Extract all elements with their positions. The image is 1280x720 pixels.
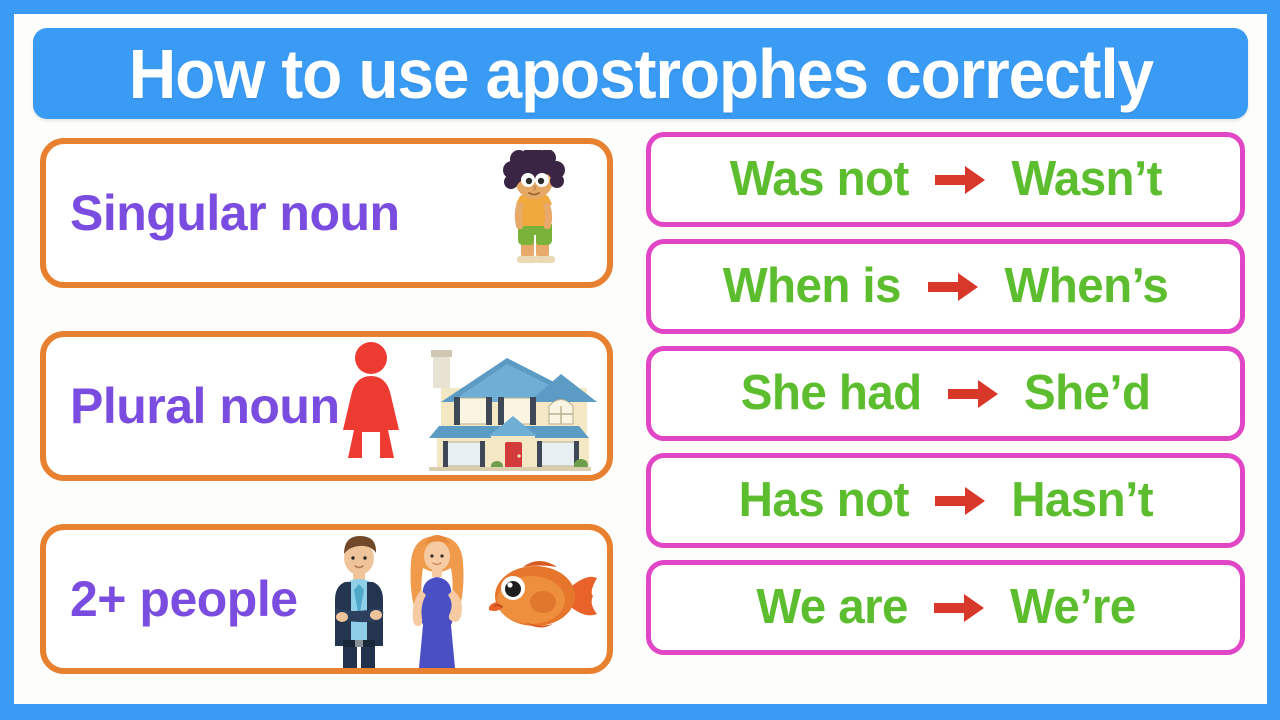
arrow-right-icon [946, 377, 1000, 411]
infographic-root: How to use apostrophes correctly Singula… [0, 0, 1280, 720]
contraction-short-form: She’d [1024, 369, 1151, 418]
contraction-full-form: Has not [738, 476, 908, 525]
page-title-banner: How to use apostrophes correctly [33, 28, 1248, 119]
woman-pictogram [335, 340, 407, 472]
noun-card-label: 2+ people [46, 574, 298, 624]
plural-noun-art-group [335, 337, 603, 475]
contraction-full-form: She had [741, 369, 922, 418]
noun-examples-column: Singular noun [14, 132, 629, 704]
contraction-card[interactable]: When is When’s [646, 239, 1245, 334]
contraction-card[interactable]: We are We’re [646, 560, 1245, 655]
arrow-right-icon [932, 591, 986, 625]
noun-card-plural[interactable]: Plural noun [40, 331, 613, 481]
contraction-full-form: We are [756, 583, 908, 632]
contraction-full-form: Was not [729, 155, 908, 204]
noun-card-label: Singular noun [46, 188, 400, 238]
contractions-column: Was not Wasn’t When is When’s She had [629, 132, 1267, 704]
arrow-right-icon [926, 270, 980, 304]
man-illustration [315, 528, 401, 668]
contraction-full-form: When is [723, 262, 901, 311]
goldfish-illustration [477, 550, 601, 642]
contraction-short-form: We’re [1010, 583, 1136, 632]
arrow-right-icon [933, 163, 987, 197]
contraction-short-form: When’s [1004, 262, 1168, 311]
contraction-short-form: Hasn’t [1011, 476, 1153, 525]
page-title: How to use apostrophes correctly [128, 39, 1152, 109]
contraction-card[interactable]: She had She’d [646, 346, 1245, 441]
arrow-right-icon [933, 484, 987, 518]
boy-illustration [487, 144, 579, 282]
contraction-card[interactable]: Was not Wasn’t [646, 132, 1245, 227]
people-and-fish-art-group [315, 530, 601, 668]
woman-illustration [397, 528, 477, 668]
contraction-short-form: Wasn’t [1011, 155, 1162, 204]
contraction-card[interactable]: Has not Hasn’t [646, 453, 1245, 548]
content-canvas: How to use apostrophes correctly Singula… [14, 14, 1267, 704]
noun-card-label: Plural noun [46, 381, 340, 431]
noun-card-singular[interactable]: Singular noun [40, 138, 613, 288]
content-columns: Singular noun [14, 132, 1267, 704]
house-illustration [411, 340, 603, 472]
noun-card-people[interactable]: 2+ people [40, 524, 613, 674]
